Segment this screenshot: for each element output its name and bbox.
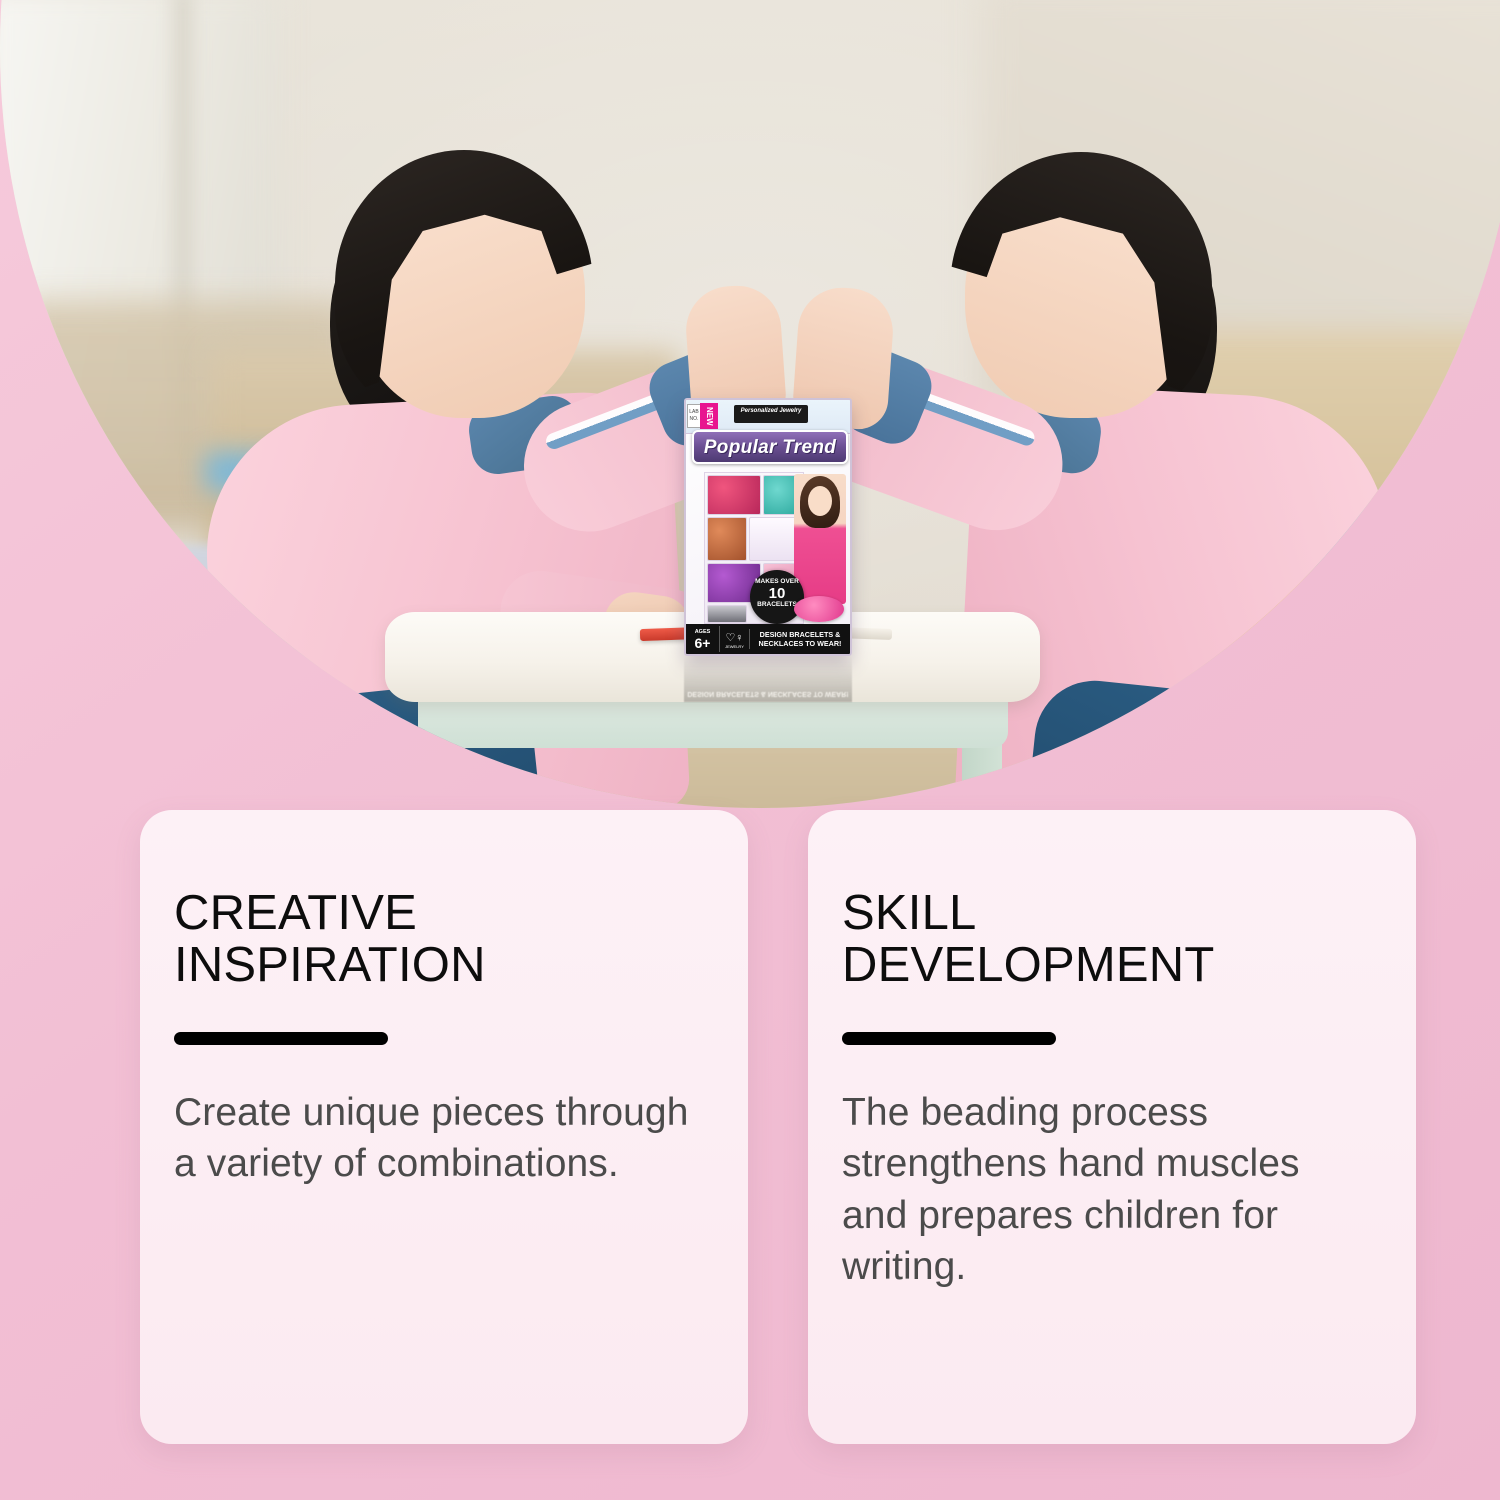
- jewelry-icons-label: JEWELRY: [720, 644, 749, 649]
- age-value: 6+: [686, 636, 719, 650]
- bead-cell-pink: [707, 475, 761, 515]
- feature-card-skill-development: SKILL DEVELOPMENT The beading process st…: [808, 810, 1416, 1444]
- makes-over-unit: BRACELETS: [757, 601, 797, 608]
- product-box: LAB NO. NEW Personalized Jewelry Popular…: [684, 398, 852, 656]
- feature-card-creative-inspiration: CREATIVE INSPIRATION Create unique piece…: [140, 810, 748, 1444]
- product-box-reflection-text: DESIGN BRACELETS & NECKLACES TO WEAR!: [684, 689, 852, 702]
- product-eyebrow: Personalized Jewelry: [734, 405, 808, 423]
- feature-card-body: The beading process strengthens hand mus…: [842, 1087, 1370, 1293]
- feature-card-divider: [174, 1032, 388, 1045]
- product-tagline: DESIGN BRACELETS & NECKLACES TO WEAR!: [750, 630, 850, 648]
- product-box-reflection: DESIGN BRACELETS & NECKLACES TO WEAR!: [684, 656, 852, 702]
- bead-cell-grey: [707, 605, 747, 623]
- new-badge: NEW: [700, 403, 718, 429]
- feature-card-title: CREATIVE INSPIRATION: [174, 888, 702, 992]
- product-box-footer: AGES 6+ ♡♀ JEWELRY DESIGN BRACELETS & NE…: [686, 624, 850, 654]
- model-face: [808, 486, 832, 516]
- brand-logo-oval: [794, 596, 844, 622]
- product-title-bar: Popular Trend: [692, 430, 848, 464]
- marketing-banner: DESIGN BRACELETS & NECKLACES TO WEAR! LA…: [0, 0, 1500, 1500]
- bead-cell-amber: [707, 517, 747, 561]
- makes-over-label: MAKES OVER: [755, 578, 799, 585]
- lab-badge: LAB NO.: [687, 404, 701, 428]
- makes-over-count: 10: [750, 586, 804, 601]
- feature-cards: CREATIVE INSPIRATION Create unique piece…: [140, 810, 1416, 1444]
- feature-card-divider: [842, 1032, 1056, 1045]
- jewelry-icons: ♡♀ JEWELRY: [720, 629, 750, 649]
- product-title: Popular Trend: [694, 432, 846, 463]
- makes-over-badge: MAKES OVER 10 BRACELETS: [750, 570, 804, 624]
- age-rating: AGES 6+: [686, 626, 720, 652]
- feature-card-body: Create unique pieces through a variety o…: [174, 1087, 702, 1190]
- feature-card-title: SKILL DEVELOPMENT: [842, 888, 1370, 992]
